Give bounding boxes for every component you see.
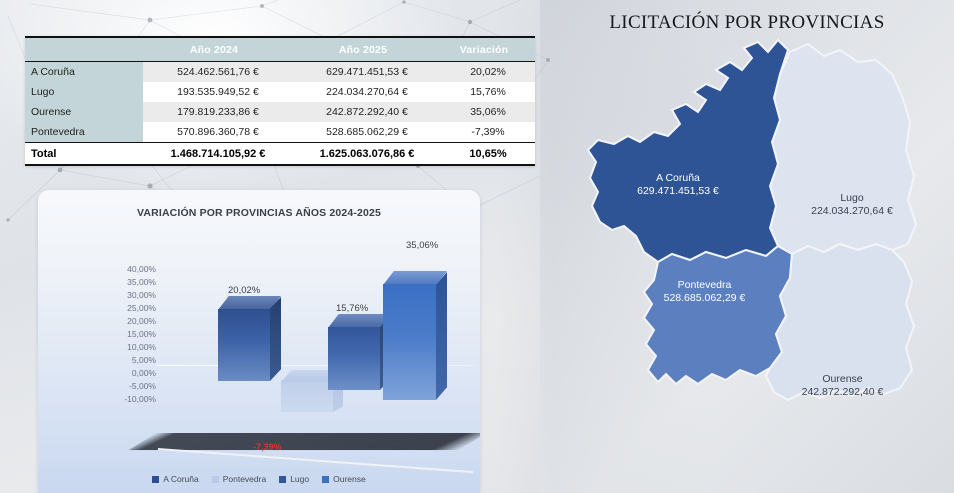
legend-swatch-icon [279, 476, 286, 483]
legend-label: Ourense [333, 474, 366, 484]
map-region-lugo[interactable] [770, 44, 916, 254]
variation-bar-chart: VARIACIÓN POR PROVINCIAS AÑOS 2024-2025 … [38, 190, 480, 493]
y-tick-label: 35,00% [100, 276, 156, 289]
cell-province: Lugo [25, 82, 143, 102]
chart-title: VARIACIÓN POR PROVINCIAS AÑOS 2024-2025 [38, 207, 480, 219]
bar-front-face [328, 327, 380, 390]
cell-year-2025: 242.872.292,40 € [293, 102, 441, 122]
table-row: Ourense 179.819.233,86 € 242.872.292,40 … [25, 102, 535, 122]
column-header-year-2024: Año 2024 [143, 37, 293, 62]
map-label-lugo: Lugo 224.034.270,64 € [772, 192, 932, 219]
table-row: A Coruña 524.462.561,76 € 629.471.451,53… [25, 62, 535, 83]
y-tick-label: 40,00% [100, 263, 156, 276]
map-region-pontevedra[interactable] [644, 246, 792, 384]
cell-total-variacion: 10,65% [441, 143, 535, 166]
bar-lugo[interactable] [328, 327, 391, 390]
cell-variacion: 20,02% [441, 62, 535, 83]
legend-item-a-coruna[interactable]: A Coruña [152, 474, 198, 484]
bar-label-ourense: 35,06% [406, 240, 438, 251]
y-tick-label: -5,00% [100, 380, 156, 393]
legend-item-lugo[interactable]: Lugo [279, 474, 309, 484]
map-label-pontevedra: Pontevedra 528.685.062,29 € [622, 279, 787, 306]
galicia-provinces-map [540, 0, 954, 493]
cell-province: Ourense [25, 102, 143, 122]
bar-top-face [383, 271, 447, 285]
table-row: Pontevedra 570.896.360,78 € 528.685.062,… [25, 122, 535, 143]
bar-front-face [383, 284, 436, 400]
table-row: Lugo 193.535.949,52 € 224.034.270,64 € 1… [25, 82, 535, 102]
bar-front-face [218, 309, 270, 381]
y-tick-label: -10,00% [100, 393, 156, 406]
legend-item-ourense[interactable]: Ourense [322, 474, 366, 484]
cell-year-2024: 524.462.561,76 € [143, 62, 293, 83]
y-tick-label: 10,00% [100, 341, 156, 354]
bar-front-face [281, 380, 333, 412]
y-tick-label: 5,00% [100, 354, 156, 367]
y-tick-label: 30,00% [100, 289, 156, 302]
cell-year-2025: 629.471.451,53 € [293, 62, 441, 83]
table-total-row: Total 1.468.714.105,92 € 1.625.063.076,8… [25, 143, 535, 166]
bar-ourense[interactable] [383, 284, 447, 400]
chart-floor-shadow [129, 433, 480, 450]
map-label-name: Pontevedra [622, 279, 787, 292]
map-label-value: 528.685.062,29 € [622, 292, 787, 305]
cell-total-label: Total [25, 143, 143, 166]
bar-label-pontevedra: -7,39% [253, 442, 282, 452]
column-header-province [25, 37, 143, 62]
legend-label: Pontevedra [223, 474, 266, 484]
legend-swatch-icon [152, 476, 159, 483]
cell-variacion: 15,76% [441, 82, 535, 102]
map-label-value: 242.872.292,40 € [760, 386, 925, 399]
y-tick-label: 0,00% [100, 367, 156, 380]
table-header-row: Año 2024 Año 2025 Variación [25, 37, 535, 62]
cell-year-2024: 570.896.360,78 € [143, 122, 293, 143]
bar-label-lugo: 15,76% [336, 303, 368, 314]
map-label-value: 224.034.270,64 € [772, 205, 932, 218]
map-label-a-coruna: A Coruña 629.471.451,53 € [598, 172, 758, 199]
column-header-year-2025: Año 2025 [293, 37, 441, 62]
bar-label-a-coruna: 20,02% [228, 285, 260, 296]
map-region-a-coruna[interactable] [588, 40, 788, 262]
chart-y-axis: 40,00% 35,00% 30,00% 25,00% 20,00% 15,00… [100, 263, 156, 407]
y-tick-label: 20,00% [100, 315, 156, 328]
map-label-name: Lugo [772, 192, 932, 205]
y-tick-label: 15,00% [100, 328, 156, 341]
map-label-name: A Coruña [598, 172, 758, 185]
legend-label: Lugo [290, 474, 309, 484]
cell-total-year-2024: 1.468.714.105,92 € [143, 143, 293, 166]
cell-year-2024: 193.535.949,52 € [143, 82, 293, 102]
bar-a-coruna[interactable] [218, 309, 281, 381]
cell-total-year-2025: 1.625.063.076,86 € [293, 143, 441, 166]
cell-province: A Coruña [25, 62, 143, 83]
cell-variacion-negative: -7,39% [441, 122, 535, 143]
bar-side-face [436, 272, 447, 400]
cell-year-2024: 179.819.233,86 € [143, 102, 293, 122]
cell-variacion: 35,06% [441, 102, 535, 122]
legend-label: A Coruña [163, 474, 198, 484]
legend-swatch-icon [212, 476, 219, 483]
chart-legend: A Coruña Pontevedra Lugo Ourense [38, 474, 480, 484]
legend-swatch-icon [322, 476, 329, 483]
y-tick-label: 25,00% [100, 302, 156, 315]
map-label-value: 629.471.451,53 € [598, 185, 758, 198]
cell-province: Pontevedra [25, 122, 143, 143]
column-header-variacion: Variación [441, 37, 535, 62]
map-label-name: Ourense [760, 373, 925, 386]
bar-side-face [270, 297, 281, 381]
cell-year-2025: 224.034.270,64 € [293, 82, 441, 102]
cell-year-2025: 528.685.062,29 € [293, 122, 441, 143]
provinces-financial-table: Año 2024 Año 2025 Variación A Coruña 524… [25, 36, 535, 166]
chart-floor-line [158, 448, 473, 473]
map-label-ourense: Ourense 242.872.292,40 € [760, 373, 925, 400]
legend-item-pontevedra[interactable]: Pontevedra [212, 474, 266, 484]
